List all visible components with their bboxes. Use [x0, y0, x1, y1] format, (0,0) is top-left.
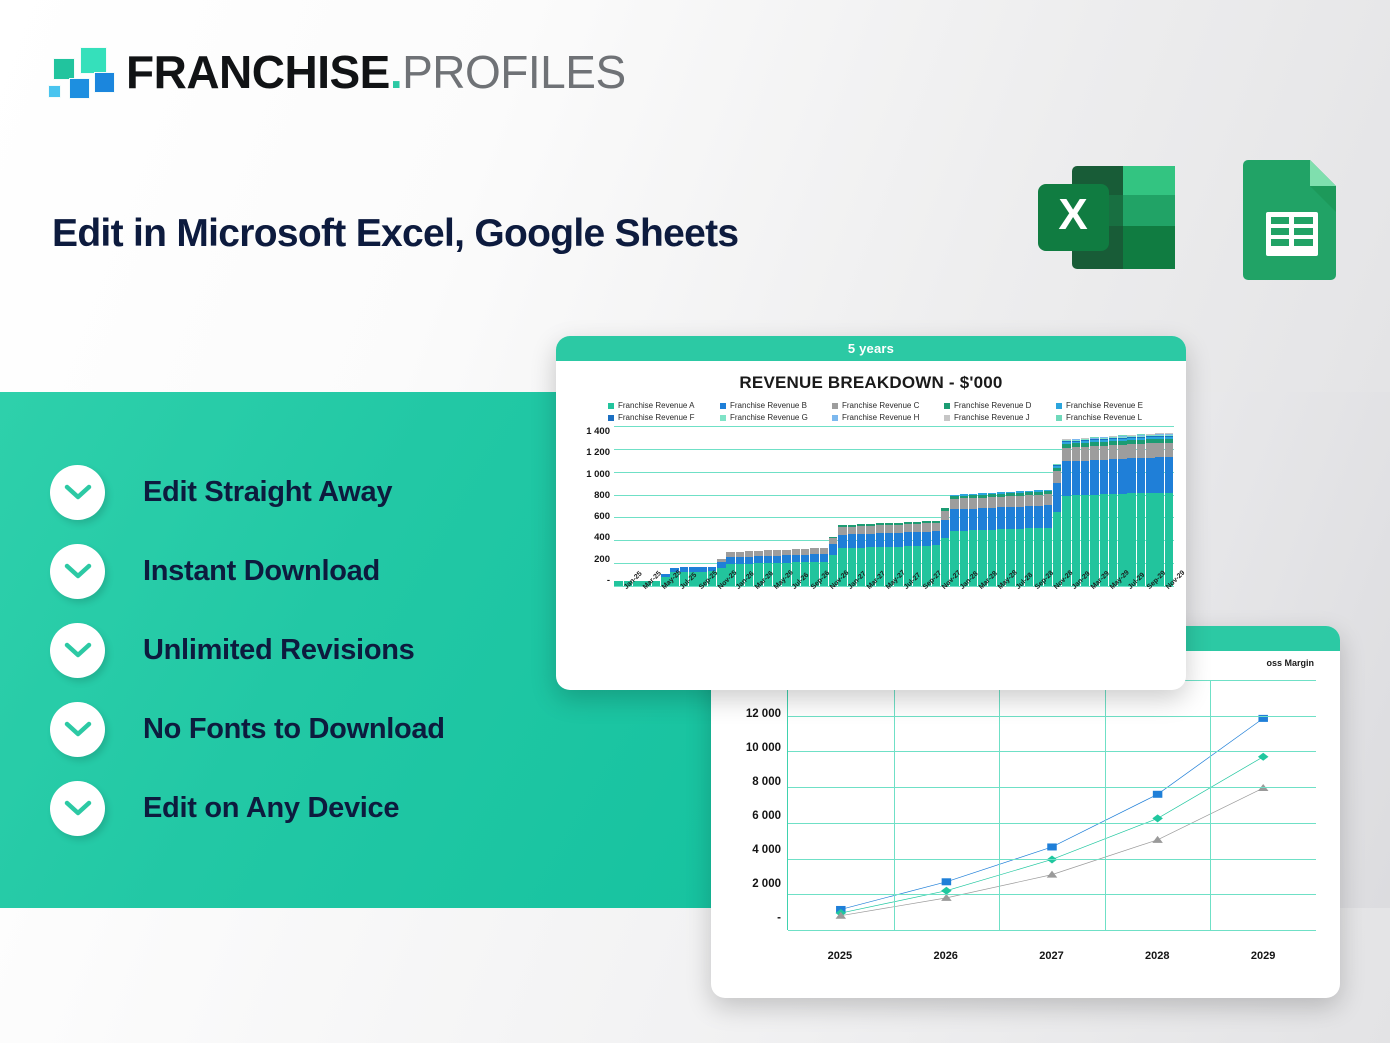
- legend-item: Franchise Revenue G: [720, 413, 828, 422]
- bar-segment: [932, 523, 940, 531]
- logo-square-2: [80, 47, 107, 74]
- brand-name-bold: FRANCHISE: [126, 46, 390, 98]
- data-point-marker: [1153, 791, 1163, 798]
- axis-tick-label: 4 000: [752, 844, 781, 856]
- revenue-plot-area: 1 4001 2001 000800600400200- Jan-25Mar-2…: [570, 426, 1174, 614]
- chevron-down-icon: [50, 544, 105, 599]
- list-item[interactable]: Unlimited Revisions: [50, 620, 445, 680]
- bar-column: [876, 426, 884, 586]
- axis-tick-label: 2028: [1104, 950, 1210, 962]
- bar-column: [773, 426, 781, 586]
- bar-segment: [810, 554, 818, 561]
- bar-column: [1127, 426, 1135, 586]
- legend-swatch: [944, 403, 950, 409]
- bar-segment: [969, 509, 977, 531]
- axis-tick-label: 400: [594, 532, 610, 543]
- bar-segment: [922, 523, 930, 531]
- excel-letter: X: [1058, 190, 1087, 239]
- bar-column: [969, 426, 977, 586]
- bar-column: [1053, 426, 1061, 586]
- feature-label: Unlimited Revisions: [143, 634, 414, 667]
- bar-column: [866, 426, 874, 586]
- bar-segment: [829, 538, 837, 545]
- revenue-chart-title: REVENUE BREAKDOWN - $'000: [556, 373, 1186, 393]
- axis-tick-label: 6 000: [752, 810, 781, 822]
- bar-segment: [894, 533, 902, 547]
- brand-wordmark: FRANCHISE.PROFILES: [126, 49, 626, 95]
- data-point-marker: [942, 878, 952, 885]
- bar-segment: [866, 534, 874, 548]
- legend-swatch: [832, 415, 838, 421]
- legend-label: Franchise Revenue J: [954, 413, 1030, 422]
- bar-column: [1100, 426, 1108, 586]
- bar-segment: [1137, 444, 1145, 458]
- bar-segment: [885, 525, 893, 533]
- gridline: [788, 787, 1316, 788]
- bar-segment: [978, 498, 986, 509]
- legend-label: Franchise Revenue A: [618, 401, 695, 410]
- axis-tick-label: 2026: [893, 950, 999, 962]
- bar-column: [782, 426, 790, 586]
- bar-segment: [1081, 447, 1089, 461]
- chevron-down-icon: [50, 781, 105, 836]
- list-item[interactable]: Instant Download: [50, 541, 445, 601]
- bar-segment: [1081, 461, 1089, 496]
- legend-swatch: [608, 403, 614, 409]
- bar-segment: [801, 555, 809, 562]
- legend-label: Franchise Revenue L: [1066, 413, 1142, 422]
- feature-label: Edit on Any Device: [143, 792, 399, 825]
- bar-segment: [773, 556, 781, 563]
- chevron-down-icon: [50, 465, 105, 520]
- bar-column: [904, 426, 912, 586]
- bar-segment: [1062, 461, 1070, 495]
- bar-segment: [736, 557, 744, 564]
- data-point-marker: [1047, 843, 1057, 850]
- bar-column: [988, 426, 996, 586]
- logo-square-4: [69, 78, 90, 99]
- bar-column: [717, 426, 725, 586]
- revenue-chart-card[interactable]: 5 years REVENUE BREAKDOWN - $'000 Franch…: [556, 336, 1186, 690]
- bar-segment: [960, 509, 968, 531]
- feature-list: Edit Straight Away Instant Download Unli…: [50, 462, 445, 857]
- axis-tick-label: 1 000: [586, 469, 610, 480]
- bar-segment: [913, 524, 921, 532]
- bar-segment: [1146, 443, 1154, 457]
- legend-item: Franchise Revenue D: [944, 401, 1052, 410]
- axis-tick-label: 1 200: [586, 447, 610, 458]
- bar-segment: [922, 532, 930, 546]
- bar-column: [642, 426, 650, 586]
- page-title: Edit in Microsoft Excel, Google Sheets: [52, 212, 738, 256]
- legend-item: Franchise Revenue J: [944, 413, 1052, 422]
- data-point-marker: [1152, 814, 1163, 822]
- bar-column: [960, 426, 968, 586]
- legend-swatch: [608, 415, 614, 421]
- revenue-card-header: 5 years: [556, 336, 1186, 361]
- bar-segment: [1155, 457, 1163, 492]
- bar-segment: [1006, 496, 1014, 507]
- bar-segment: [1025, 495, 1033, 506]
- bar-column: [894, 426, 902, 586]
- bar-column: [848, 426, 856, 586]
- bar-segment: [1053, 483, 1061, 511]
- microsoft-excel-icon[interactable]: X: [1038, 155, 1176, 280]
- gridline: [788, 859, 1316, 860]
- bar-segment: [960, 498, 968, 509]
- bar-column: [670, 426, 678, 586]
- bar-segment: [969, 498, 977, 509]
- bar-segment: [876, 525, 884, 533]
- bar-segment: [1090, 495, 1098, 586]
- feature-label: Edit Straight Away: [143, 476, 392, 509]
- revenue-y-axis-labels: 1 4001 2001 000800600400200-: [570, 426, 610, 586]
- legend-item: Franchise Revenue C: [832, 401, 940, 410]
- bar-segment: [1109, 459, 1117, 494]
- bar-column: [857, 426, 865, 586]
- bar-column: [922, 426, 930, 586]
- bar-segment: [876, 533, 884, 547]
- bar-column: [1090, 426, 1098, 586]
- bar-segment: [1090, 460, 1098, 495]
- growth-series-svg: [788, 680, 1316, 930]
- bar-column: [885, 426, 893, 586]
- bar-column: [754, 426, 762, 586]
- bar-column: [1155, 426, 1163, 586]
- legend-label: Franchise Revenue H: [842, 413, 919, 422]
- bar-column: [680, 426, 688, 586]
- bar-segment: [745, 557, 753, 564]
- bar-column: [1034, 426, 1042, 586]
- bar-column: [829, 426, 837, 586]
- bar-segment: [1165, 457, 1173, 492]
- gridline: [788, 751, 1316, 752]
- bar-column: [1006, 426, 1014, 586]
- list-item[interactable]: Edit Straight Away: [50, 462, 445, 522]
- bar-segment: [950, 499, 958, 510]
- bar-column: [1165, 426, 1173, 586]
- legend-label: Franchise Revenue D: [954, 401, 1031, 410]
- legend-label: Franchise Revenue E: [1066, 401, 1143, 410]
- bar-segment: [913, 532, 921, 546]
- bar-segment: [1053, 471, 1061, 483]
- axis-tick-label: 2 000: [752, 878, 781, 890]
- legend-item: Franchise Revenue F: [608, 413, 716, 422]
- bar-segment: [932, 531, 940, 545]
- bar-segment: [1165, 493, 1173, 586]
- bar-column: [689, 426, 697, 586]
- bar-column: [652, 426, 660, 586]
- legend-label: Franchise Revenue B: [730, 401, 807, 410]
- logo-square-1: [53, 58, 75, 80]
- line-series: [841, 718, 1263, 909]
- bar-segment: [1118, 445, 1126, 459]
- bar-column: [661, 426, 669, 586]
- bar-segment: [764, 556, 772, 563]
- revenue-chart-legend: Franchise Revenue AFranchise Revenue BFr…: [556, 393, 1186, 424]
- axis-tick-label: 800: [594, 490, 610, 501]
- bar-segment: [1155, 443, 1163, 457]
- google-sheets-icon[interactable]: [1242, 155, 1342, 280]
- gridline: [1105, 680, 1106, 930]
- legend-item: Franchise Revenue L: [1056, 413, 1164, 422]
- brand-logo[interactable]: FRANCHISE.PROFILES: [46, 44, 626, 100]
- gridline: [788, 930, 1316, 931]
- bar-column: [1118, 426, 1126, 586]
- legend-swatch: [720, 415, 726, 421]
- bar-segment: [829, 544, 837, 555]
- bar-segment: [1146, 458, 1154, 493]
- bar-column: [624, 426, 632, 586]
- bar-segment: [1100, 460, 1108, 495]
- bar-segment: [857, 534, 865, 548]
- bar-segment: [1044, 505, 1052, 527]
- bar-segment: [726, 557, 734, 564]
- line-series: [841, 788, 1263, 916]
- bar-segment: [1072, 461, 1080, 495]
- growth-plot-area: 14 00012 00010 0008 0006 0004 0002 000- …: [723, 674, 1324, 974]
- axis-tick-label: 10 000: [746, 742, 781, 754]
- legend-swatch: [1056, 403, 1062, 409]
- bar-column: [820, 426, 828, 586]
- brand-name-light: PROFILES: [402, 46, 626, 98]
- brand-name-dot: .: [390, 46, 402, 98]
- chevron-down-icon: [50, 702, 105, 757]
- growth-y-axis-labels: 14 00012 00010 0008 0006 0004 0002 000-: [723, 674, 781, 924]
- bar-segment: [857, 526, 865, 534]
- legend-swatch: [944, 415, 950, 421]
- bar-column: [1146, 426, 1154, 586]
- axis-tick-label: 1 400: [586, 426, 610, 437]
- feature-label: No Fonts to Download: [143, 713, 445, 746]
- line-series: [841, 757, 1263, 913]
- legend-label: Franchise Revenue G: [730, 413, 808, 422]
- bar-segment: [1044, 494, 1052, 505]
- bar-column: [978, 426, 986, 586]
- data-point-marker: [1152, 836, 1163, 843]
- legend-swatch: [832, 403, 838, 409]
- bar-column: [726, 426, 734, 586]
- gridline: [788, 716, 1316, 717]
- bar-segment: [1109, 445, 1117, 459]
- list-item[interactable]: No Fonts to Download: [50, 699, 445, 759]
- axis-tick-label: 2025: [787, 950, 893, 962]
- bar-column: [810, 426, 818, 586]
- bar-segment: [894, 525, 902, 533]
- bar-segment: [988, 508, 996, 530]
- axis-tick-label: 12 000: [746, 708, 781, 720]
- bar-segment: [941, 511, 949, 520]
- logo-square-5: [94, 72, 115, 93]
- axis-tick-label: 2027: [999, 950, 1105, 962]
- bar-column: [633, 426, 641, 586]
- bar-segment: [866, 526, 874, 534]
- gridline: [894, 680, 895, 930]
- bar-column: [708, 426, 716, 586]
- bar-column: [764, 426, 772, 586]
- gridline: [788, 894, 1316, 895]
- legend-label: Franchise Revenue C: [842, 401, 919, 410]
- legend-item: Franchise Revenue E: [1056, 401, 1164, 410]
- bar-segment: [1118, 459, 1126, 494]
- bar-segment: [904, 524, 912, 532]
- bar-segment: [1034, 495, 1042, 506]
- bar-segment: [1109, 494, 1117, 586]
- bar-segment: [1016, 496, 1024, 507]
- gridline: [788, 823, 1316, 824]
- list-item[interactable]: Edit on Any Device: [50, 778, 445, 838]
- bar-column: [950, 426, 958, 586]
- axis-tick-label: 8 000: [752, 776, 781, 788]
- bar-column: [801, 426, 809, 586]
- legend-item: oss Margin: [1266, 658, 1314, 668]
- bar-column: [1025, 426, 1033, 586]
- growth-plot-grid: [787, 680, 1316, 930]
- bar-segment: [904, 532, 912, 546]
- axis-tick-label: 2029: [1210, 950, 1316, 962]
- data-point-marker: [1258, 753, 1269, 761]
- bar-segment: [838, 527, 846, 535]
- bar-segment: [988, 497, 996, 508]
- gridline: [999, 680, 1000, 930]
- bar-column: [1072, 426, 1080, 586]
- bar-column: [1109, 426, 1117, 586]
- legend-item: Franchise Revenue B: [720, 401, 828, 410]
- bar-segment: [1016, 507, 1024, 529]
- axis-tick-label: -: [607, 575, 610, 586]
- bar-segment: [838, 535, 846, 549]
- bar-column: [913, 426, 921, 586]
- bar-column: [838, 426, 846, 586]
- bar-segment: [782, 555, 790, 562]
- axis-tick-label: 600: [594, 511, 610, 522]
- bar-segment: [1127, 458, 1135, 493]
- axis-tick-label: 200: [594, 554, 610, 565]
- bar-column: [698, 426, 706, 586]
- data-point-marker: [1047, 871, 1058, 878]
- bar-segment: [792, 555, 800, 562]
- bar-segment: [1100, 446, 1108, 460]
- bar-column: [1137, 426, 1145, 586]
- bar-segment: [1034, 506, 1042, 528]
- bar-column: [736, 426, 744, 586]
- bar-column: [1044, 426, 1052, 586]
- bar-column: [941, 426, 949, 586]
- logo-mark-icon: [46, 44, 108, 100]
- bar-segment: [1025, 506, 1033, 528]
- legend-item: Franchise Revenue A: [608, 401, 716, 410]
- bar-column: [1081, 426, 1089, 586]
- revenue-bars: [614, 426, 1174, 586]
- bar-segment: [1072, 447, 1080, 461]
- growth-x-axis-labels: 20252026202720282029: [787, 950, 1316, 962]
- bar-segment: [885, 533, 893, 547]
- bar-segment: [1090, 446, 1098, 460]
- bar-column: [1016, 426, 1024, 586]
- bar-segment: [997, 507, 1005, 529]
- bar-segment: [997, 497, 1005, 508]
- bar-segment: [978, 508, 986, 530]
- bar-segment: [941, 520, 949, 538]
- bar-column: [614, 426, 622, 586]
- legend-swatch: [720, 403, 726, 409]
- axis-tick-label: -: [777, 912, 781, 924]
- bar-segment: [1146, 493, 1154, 586]
- bar-column: [745, 426, 753, 586]
- bar-segment: [754, 556, 762, 563]
- bar-segment: [1137, 458, 1145, 493]
- chevron-down-icon: [50, 623, 105, 678]
- logo-square-3: [48, 85, 61, 98]
- bar-column: [1062, 426, 1070, 586]
- legend-swatch: [1056, 415, 1062, 421]
- bar-column: [997, 426, 1005, 586]
- bar-segment: [1006, 507, 1014, 529]
- bar-segment: [1062, 448, 1070, 462]
- gridline: [1210, 680, 1211, 930]
- bar-segment: [848, 527, 856, 535]
- revenue-x-axis-labels: Jan-25Mar-25May-25Jul-25Sep-25Nov-25Jan-…: [614, 586, 1174, 614]
- bar-segment: [1127, 444, 1135, 458]
- bar-segment: [950, 509, 958, 531]
- bar-segment: [1165, 443, 1173, 457]
- legend-label: Franchise Revenue F: [618, 413, 694, 422]
- bar-segment: [848, 534, 856, 548]
- feature-label: Instant Download: [143, 555, 380, 588]
- bar-column: [792, 426, 800, 586]
- bar-segment: [820, 554, 828, 561]
- legend-item: Franchise Revenue H: [832, 413, 940, 422]
- bar-column: [932, 426, 940, 586]
